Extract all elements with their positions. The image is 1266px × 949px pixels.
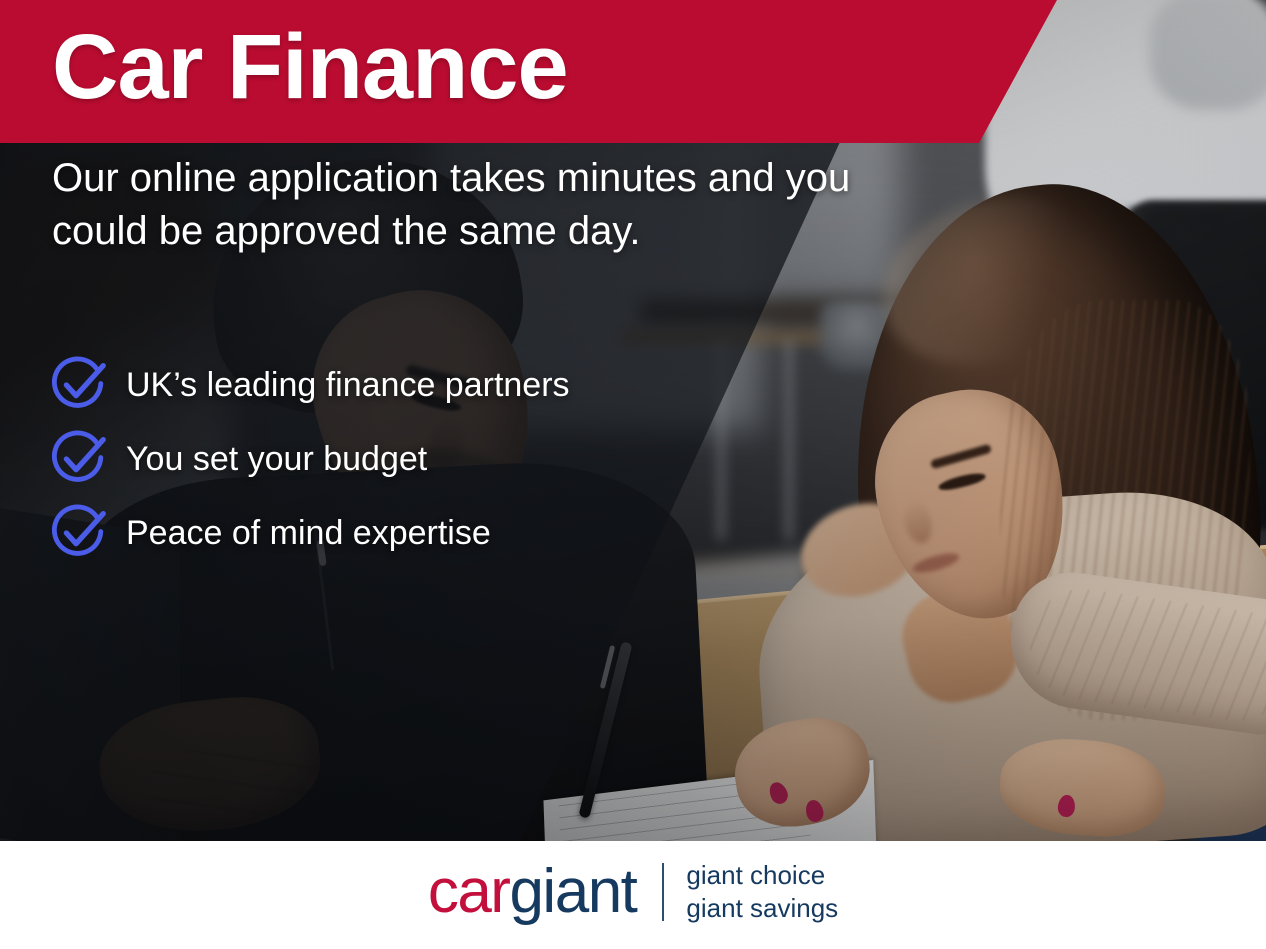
car-finance-advert: Car Finance Our online application takes… xyxy=(0,0,1266,949)
tagline-line-two: giant savings xyxy=(686,893,838,923)
list-item: Peace of mind expertise xyxy=(48,496,708,570)
check-circle-icon xyxy=(48,354,110,416)
list-item-label: UK’s leading finance partners xyxy=(126,366,570,405)
benefits-list: UK’s leading finance partners You set yo… xyxy=(48,348,708,570)
logo-word-giant: giant xyxy=(509,861,636,923)
check-circle-icon xyxy=(48,502,110,564)
list-item: You set your budget xyxy=(48,422,708,496)
check-circle-icon xyxy=(48,428,110,490)
subheadline: Our online application takes minutes and… xyxy=(52,152,912,258)
logo-word-car: car xyxy=(428,861,510,923)
list-item-label: Peace of mind expertise xyxy=(126,514,491,553)
tagline-line-one: giant choice xyxy=(686,860,825,890)
list-item-label: You set your budget xyxy=(126,440,427,479)
list-item: UK’s leading finance partners xyxy=(48,348,708,422)
logo-tagline: giant choice giant savings xyxy=(686,859,838,926)
logo-divider xyxy=(662,863,664,921)
cargiant-logo[interactable]: car giant giant choice giant savings xyxy=(0,859,1266,926)
page-title: Car Finance xyxy=(52,21,568,113)
footer-bar: car giant giant choice giant savings xyxy=(0,841,1266,949)
